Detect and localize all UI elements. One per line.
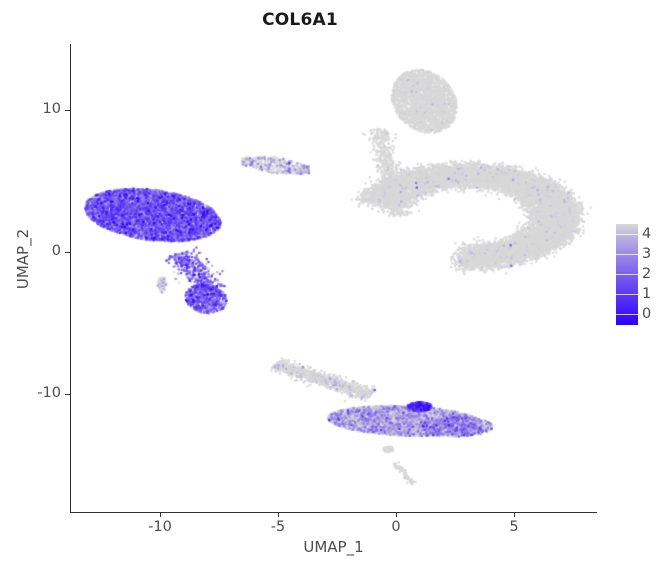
x-tick-label-neg10: -10 [138, 519, 182, 535]
legend-label-4: 4 [642, 227, 651, 242]
y-tick-mark-0 [65, 252, 70, 253]
x-tick-mark-5 [514, 512, 515, 517]
legend-label-3: 3 [642, 247, 651, 262]
legend-label-2: 2 [642, 267, 651, 282]
y-tick-mark-neg10 [65, 394, 70, 395]
y-axis-title: UMAP_2 [14, 189, 32, 329]
y-axis-line [70, 44, 71, 513]
umap-feature-plot: COL6A1 10 0 -10 -10 -5 0 5 UMAP_1 UMAP_2… [0, 0, 672, 576]
scatter-plot-canvas [0, 0, 672, 576]
legend-tick-2 [616, 274, 638, 275]
page-title: COL6A1 [0, 10, 600, 30]
y-tick-mark-10 [65, 110, 70, 111]
x-tick-label-0: 0 [374, 519, 418, 535]
legend-tick-1 [616, 294, 638, 295]
x-axis-line [70, 512, 597, 513]
x-tick-label-5: 5 [492, 519, 536, 535]
legend-label-0: 0 [642, 307, 651, 322]
legend-tick-3 [616, 254, 638, 255]
y-tick-label-10: 10 [21, 101, 61, 117]
legend-label-1: 1 [642, 287, 651, 302]
y-tick-label-neg10: -10 [21, 385, 61, 401]
x-tick-mark-0 [396, 512, 397, 517]
legend-tick-0 [616, 314, 638, 315]
x-tick-mark-neg10 [160, 512, 161, 517]
x-axis-title: UMAP_1 [70, 538, 597, 556]
x-tick-mark-neg5 [278, 512, 279, 517]
x-tick-label-neg5: -5 [256, 519, 300, 535]
legend-tick-4 [616, 234, 638, 235]
